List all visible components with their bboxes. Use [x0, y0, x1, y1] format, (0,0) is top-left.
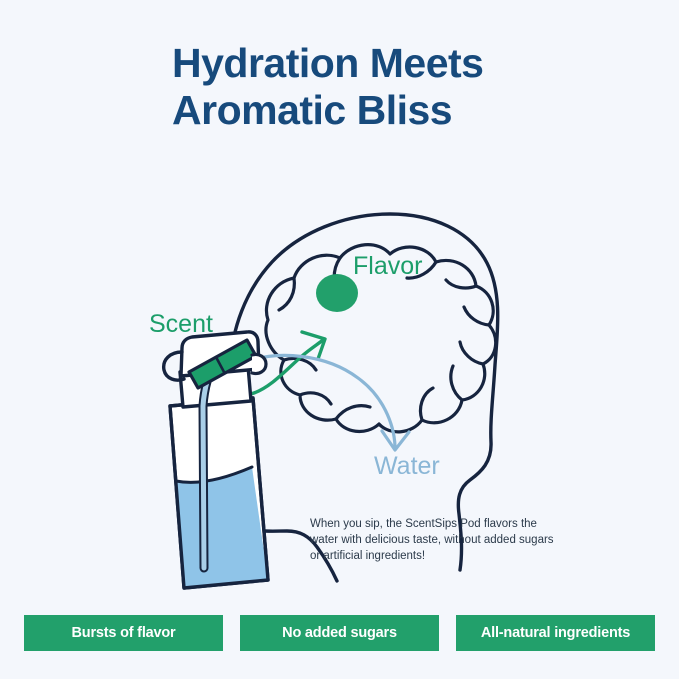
bottle-water-fill — [176, 467, 268, 588]
description-paragraph: When you sip, the ScentSips Pod flavors … — [310, 516, 556, 564]
description-text: When you sip, the ScentSips Pod flavors … — [310, 516, 556, 564]
infographic-page: Hydration Meets Aromatic Bliss — [0, 0, 679, 679]
badge-no-added-sugars[interactable]: No added sugars — [240, 615, 439, 651]
water-bottle — [164, 332, 268, 588]
badge-bursts-of-flavor[interactable]: Bursts of flavor — [24, 615, 223, 651]
page-title: Hydration Meets Aromatic Bliss — [172, 40, 632, 134]
flavor-receptor-dot — [316, 274, 358, 312]
title-line-2: Aromatic Bliss — [172, 87, 632, 134]
label-scent: Scent — [149, 310, 213, 339]
bottle-spout — [252, 354, 266, 373]
label-water: Water — [374, 452, 440, 481]
water-arrow — [245, 355, 409, 450]
badge-all-natural-ingredients[interactable]: All-natural ingredients — [456, 615, 655, 651]
feature-badge-row: Bursts of flavor No added sugars All-nat… — [24, 615, 655, 651]
label-flavor: Flavor — [353, 252, 422, 281]
title-line-1: Hydration Meets — [172, 40, 632, 87]
